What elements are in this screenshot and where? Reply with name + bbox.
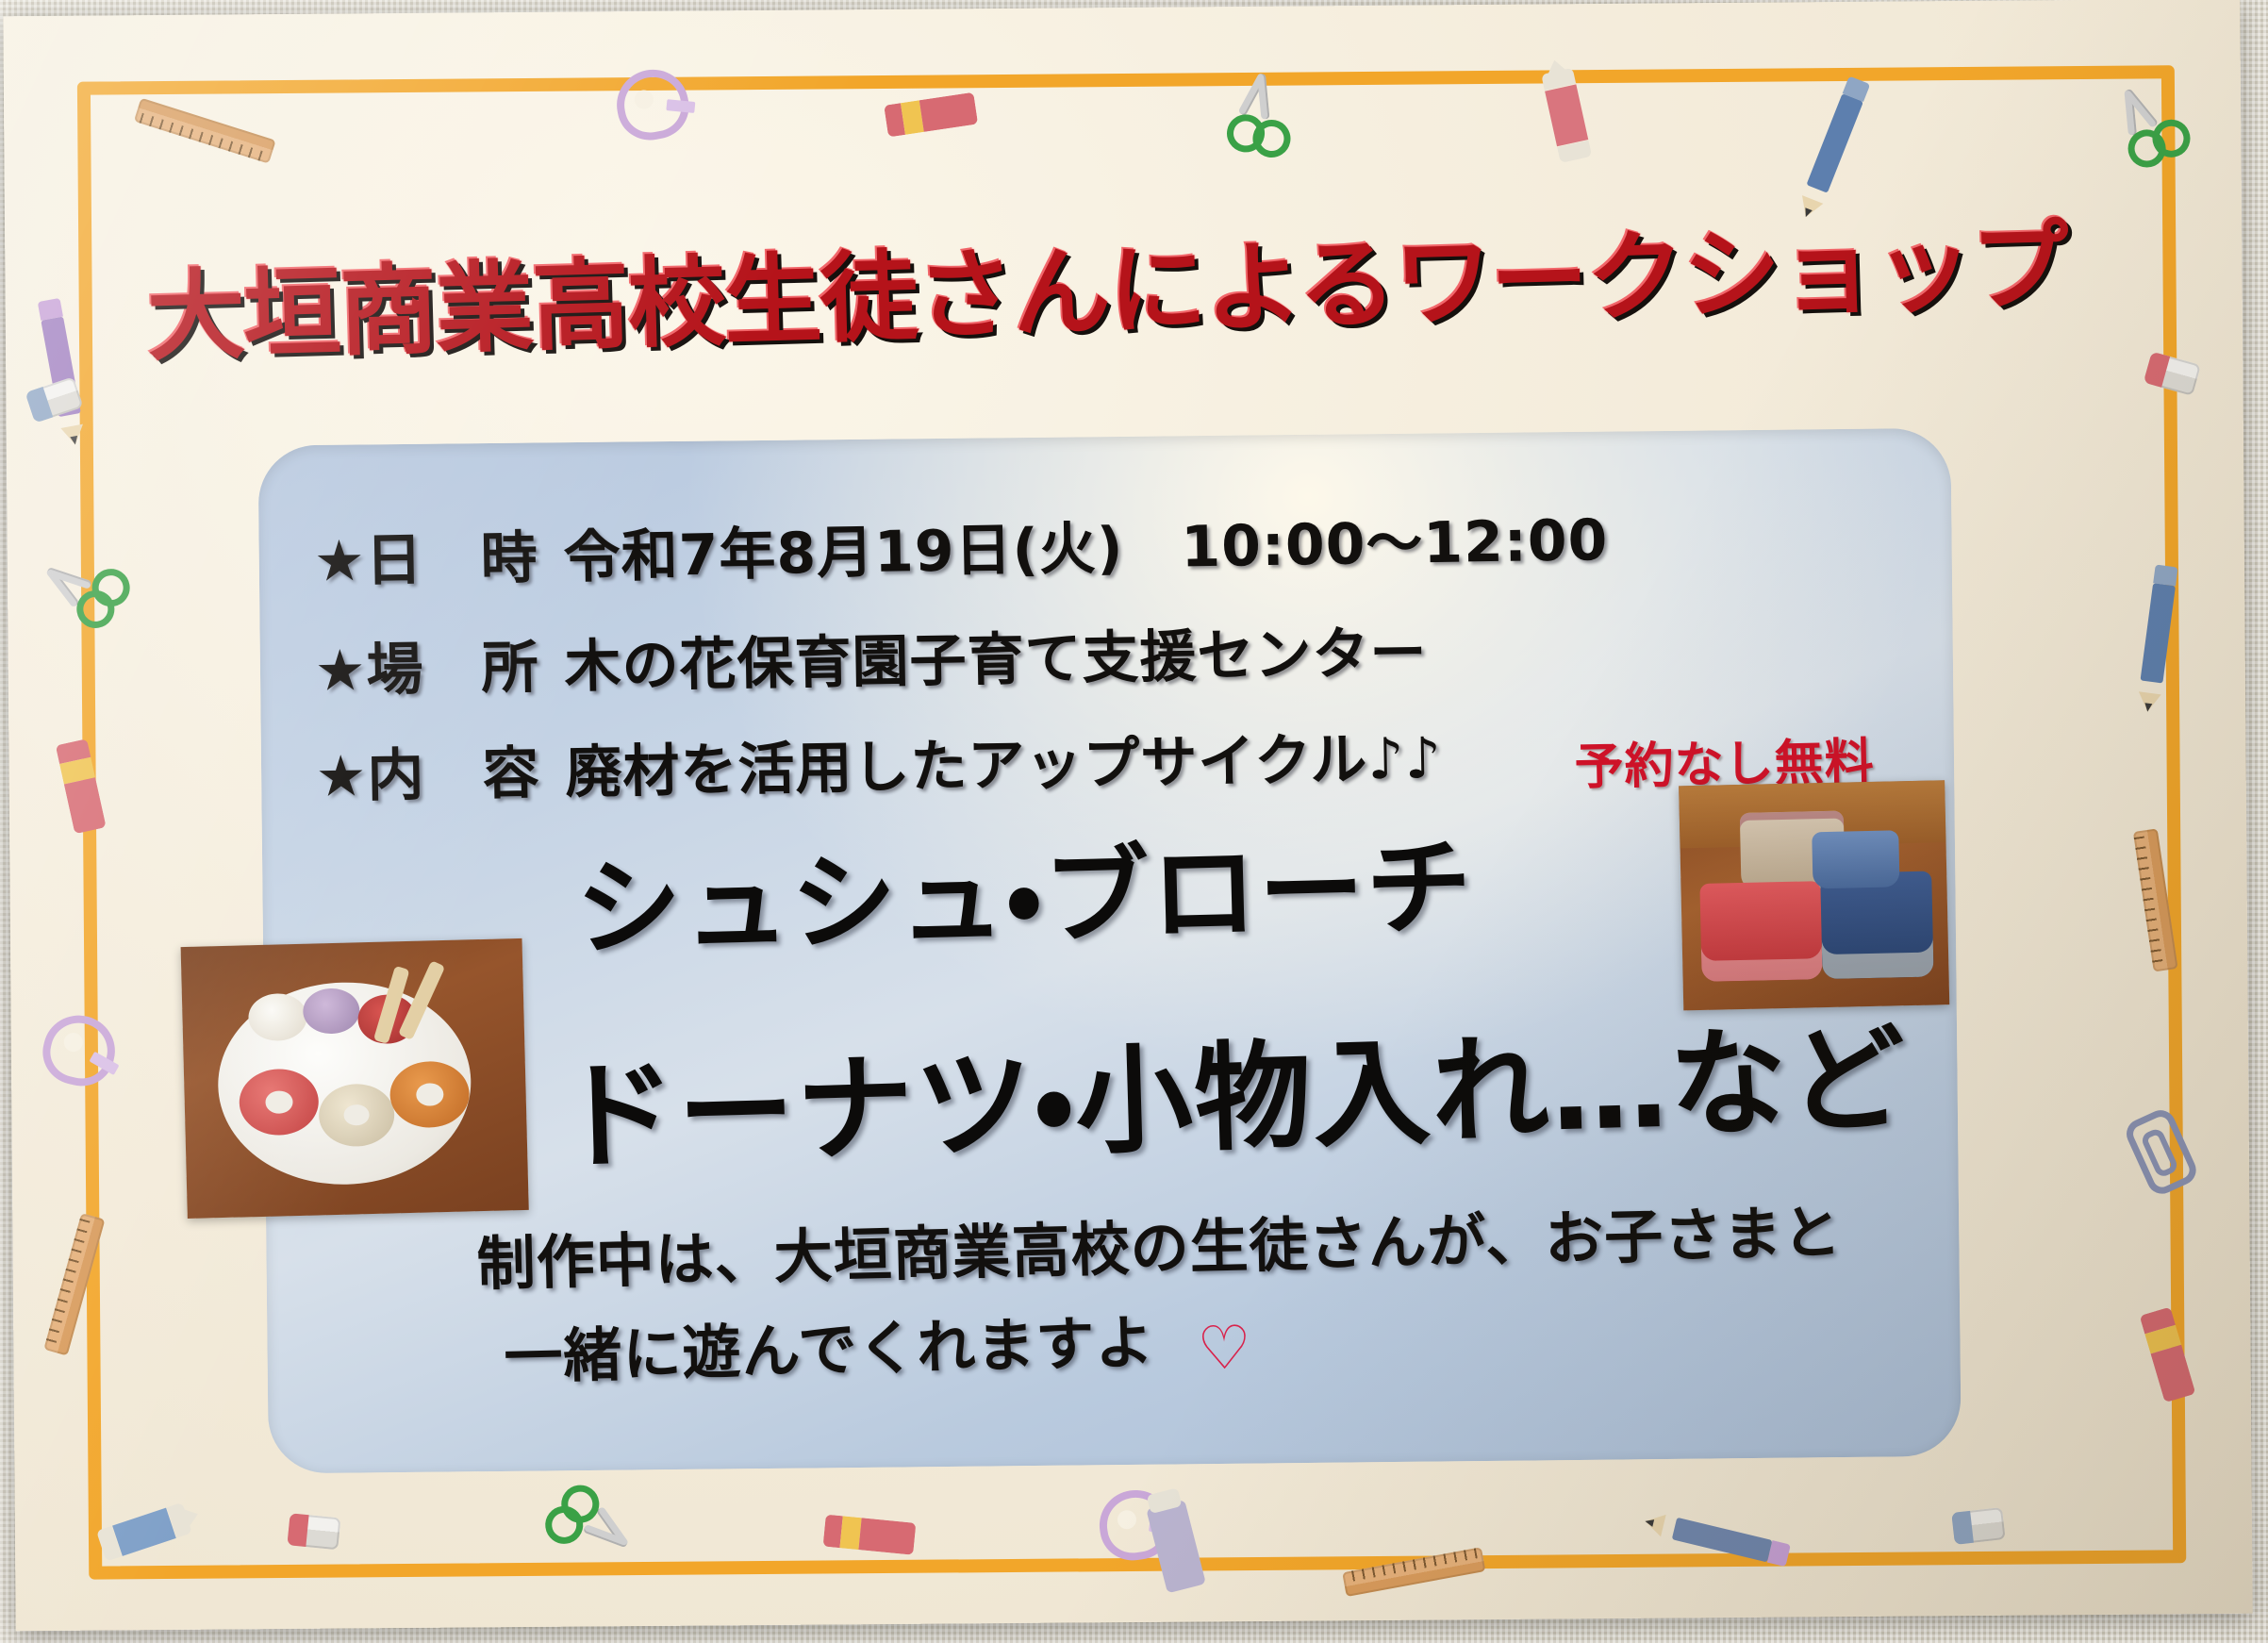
scissors-icon [1214,66,1298,154]
star-icon: ★ [314,638,367,705]
star-icon: ★ [313,528,366,595]
basket-red [1699,881,1822,982]
info-label-content: 内 容 [367,745,566,805]
eraser-icon [1951,1507,2005,1545]
basket-blue-small [1812,830,1899,888]
poster-photo-surface: 大垣商業高校生徒さんによるワークショップ ★日 時令和7年8月19日(火) 10… [0,0,2268,1643]
note-line-2: 一緒に遊んでくれますよ [504,1313,1155,1386]
poster-paper: 大垣商業高校生徒さんによるワークショップ ★日 時令和7年8月19日(火) 10… [3,0,2252,1631]
photo-scrunchies-donuts [181,938,529,1219]
eraser-icon [287,1513,340,1550]
photo-fabric-baskets [1679,780,1949,1010]
info-label-date: 日 時 [365,529,564,589]
info-label-place: 場 所 [366,639,565,699]
info-row-content: ★内 容廃材を活用したアップサイクル♪♪ [315,730,1442,805]
headline-products-1: シュシュ・ブローチ [574,835,1475,963]
star-icon: ★ [315,743,368,810]
heart-icon: ♡ [1197,1314,1252,1385]
info-row-place: ★場 所木の花保育園子育て支援センター [314,624,1428,700]
